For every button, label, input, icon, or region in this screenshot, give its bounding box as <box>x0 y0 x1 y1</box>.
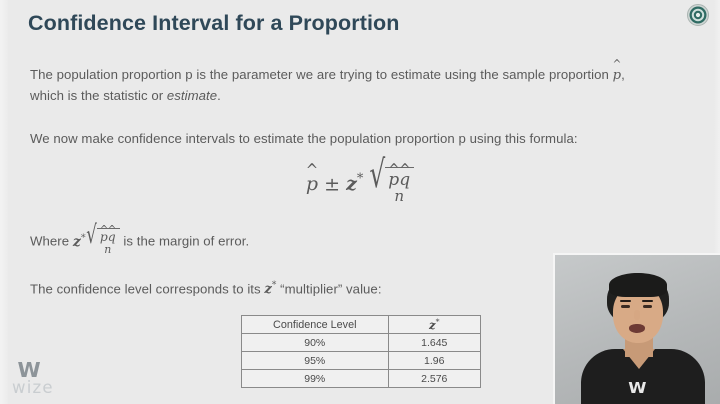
formula-radical: √pqn <box>369 167 415 204</box>
column-header-z-star: z* <box>388 316 480 334</box>
z-star-multiplier-table: Confidence Level z* 90% 1.645 95% 1.96 9… <box>241 315 481 388</box>
paragraph-multiplier-intro: The confidence level corresponds to its … <box>30 276 530 300</box>
para3-text-where: Where <box>30 234 73 249</box>
para1-text-a: The population proportion p is the param… <box>30 67 613 82</box>
table-row: 99% 2.576 <box>242 370 481 388</box>
formula-p-hat: p <box>306 173 318 195</box>
slide-canvas: Confidence Interval for a Proportion The… <box>0 0 720 404</box>
presenter-hair-top <box>609 273 667 297</box>
wize-wordmark: wize <box>12 378 54 397</box>
wize-logo: W wize <box>12 358 82 398</box>
formula-numerator: pq <box>387 171 411 190</box>
cell-z-value: 2.576 <box>388 370 480 388</box>
formula-plus-minus: ± <box>324 173 340 195</box>
column-header-confidence-level: Confidence Level <box>242 316 389 334</box>
paragraph-formula-intro: We now make confidence intervals to esti… <box>30 129 660 149</box>
cell-confidence-level: 99% <box>242 370 389 388</box>
para4-z-star: z* <box>264 282 276 297</box>
para4-text-b: “multiplier” value: <box>276 281 381 296</box>
para1-estimate-emphasis: estimate <box>167 88 217 103</box>
formula-denominator: n <box>387 189 411 205</box>
presenter-eye-left <box>621 305 630 308</box>
table-body: 90% 1.645 95% 1.96 99% 2.576 <box>242 334 481 388</box>
cell-confidence-level: 95% <box>242 352 389 370</box>
table-row: 95% 1.96 <box>242 352 481 370</box>
para3-text-rest: is the margin of error. <box>120 234 249 249</box>
paragraph-margin-of-error: Where z*√pqn is the margin of error. <box>30 228 450 255</box>
presenter-nose <box>634 310 640 320</box>
presenter-mouth <box>629 324 645 333</box>
record-indicator-svg <box>686 3 710 27</box>
formula-fraction: pqn <box>387 171 411 206</box>
display-formula-confidence-interval: p ± z* √pqn <box>0 167 720 204</box>
page-title: Confidence Interval for a Proportion <box>28 11 400 36</box>
table-row: 90% 1.645 <box>242 334 481 352</box>
cell-z-value: 1.645 <box>388 334 480 352</box>
radical-hook-icon: √ <box>369 153 385 197</box>
radical-hook-icon: √ <box>86 221 97 250</box>
para3-z-star: z* <box>73 234 86 250</box>
presenter-brow-right <box>642 300 653 302</box>
presenter-video-overlay[interactable]: W <box>553 253 720 404</box>
presenter-shirt-logo-icon: W <box>628 379 645 397</box>
presenter-brow-left <box>620 300 631 302</box>
para3-radical-expression: √pqn <box>86 228 120 254</box>
table-header-row: Confidence Level z* <box>242 316 481 334</box>
formula-radicand: pqn <box>385 167 414 204</box>
para1-text-c: . <box>217 88 221 103</box>
paragraph-population-proportion: The population proportion p is the param… <box>30 65 660 106</box>
p-hat-inline: p <box>613 66 622 86</box>
record-indicator-icon[interactable] <box>686 3 710 27</box>
cell-confidence-level: 90% <box>242 334 389 352</box>
presenter-eye-right <box>643 305 652 308</box>
para4-text-a: The confidence level corresponds to its <box>30 281 264 296</box>
formula-z-star: z* <box>346 173 363 195</box>
cell-z-value: 1.96 <box>388 352 480 370</box>
